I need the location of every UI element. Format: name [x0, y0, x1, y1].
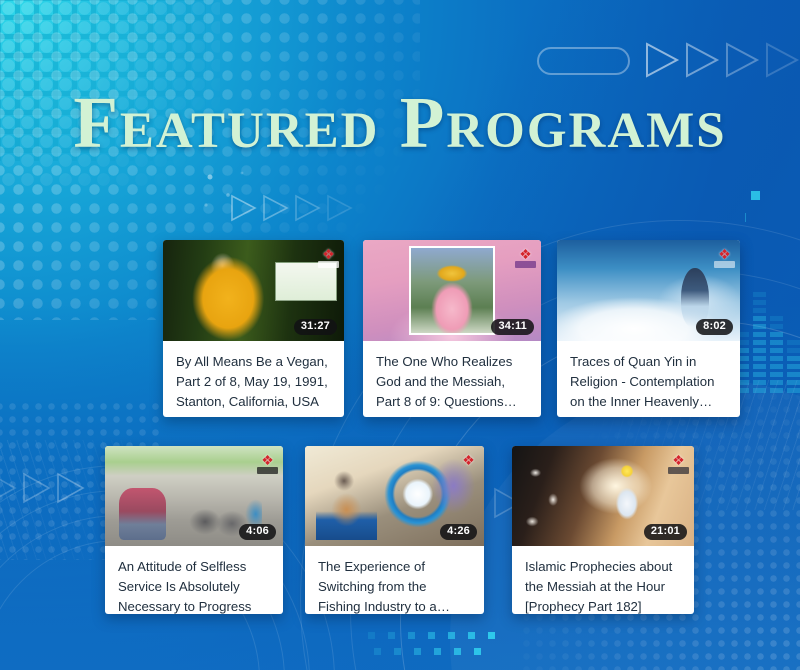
card-title: The Experience of Switching from the Fis… [305, 546, 484, 614]
program-card[interactable]: ❖ 34:11 The One Who Realizes God and the… [363, 240, 541, 417]
triangle-row-bottomleft [0, 472, 108, 506]
featured-programs-banner: Featured Programs ❖ 31:27 By All Means B… [0, 0, 800, 670]
card-thumbnail[interactable]: ❖ 31:27 [163, 240, 344, 341]
square-dots-right [745, 185, 795, 245]
program-card[interactable]: ❖ 21:01 Islamic Prophecies about the Mes… [512, 446, 694, 614]
card-thumbnail[interactable]: ❖ 21:01 [512, 446, 694, 546]
card-title: Traces of Quan Yin in Religion - Contemp… [557, 341, 740, 417]
card-thumbnail[interactable]: ❖ 4:26 [305, 446, 484, 546]
program-card[interactable]: ❖ 4:26 The Experience of Switching from … [305, 446, 484, 614]
small-dots-decoration [200, 165, 260, 225]
equalizer-bars-decoration [736, 292, 800, 393]
card-title: By All Means Be a Vegan, Part 2 of 8, Ma… [163, 341, 344, 417]
channel-logo-icon: ❖ [459, 450, 478, 469]
channel-logo-subtext [515, 261, 536, 268]
card-thumbnail[interactable]: ❖ 34:11 [363, 240, 541, 341]
program-card[interactable]: ❖ 31:27 By All Means Be a Vegan, Part 2 … [163, 240, 344, 417]
card-thumbnail[interactable]: ❖ 4:06 [105, 446, 283, 546]
pill-outline-decoration [537, 47, 630, 75]
card-title: An Attitude of Selfless Service Is Absol… [105, 546, 283, 614]
card-thumbnail[interactable]: ❖ 8:02 [557, 240, 740, 341]
duration-badge: 34:11 [491, 319, 534, 335]
card-title: Islamic Prophecies about the Messiah at … [512, 546, 694, 614]
program-card[interactable]: ❖ 4:06 An Attitude of Selfless Service I… [105, 446, 283, 614]
card-title: The One Who Realizes God and the Messiah… [363, 341, 541, 417]
duration-badge: 4:26 [440, 524, 477, 540]
page-title: Featured Programs [0, 86, 800, 159]
triangle-row-topright [645, 42, 800, 82]
channel-logo-subtext [668, 467, 689, 474]
duration-badge: 31:27 [294, 319, 337, 335]
duration-badge: 8:02 [696, 319, 733, 335]
channel-logo-subtext [714, 261, 735, 268]
channel-logo-subtext [318, 261, 339, 268]
program-card[interactable]: ❖ 8:02 Traces of Quan Yin in Religion - … [557, 240, 740, 417]
duration-badge: 4:06 [239, 524, 276, 540]
duration-badge: 21:01 [644, 524, 687, 540]
square-dots-bottomcenter [368, 630, 558, 664]
channel-logo-subtext [257, 467, 278, 474]
